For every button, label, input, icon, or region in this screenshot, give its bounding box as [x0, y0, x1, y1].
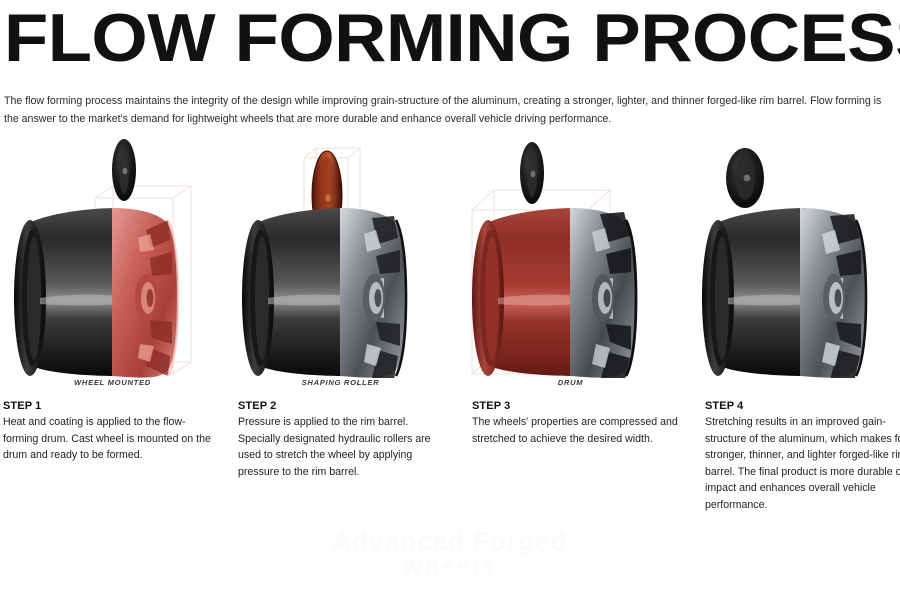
diagram-strip: WHEEL MOUNTED: [0, 138, 900, 400]
diagram-caption-1: WHEEL MOUNTED: [0, 378, 225, 387]
step-4-heading: STEP 4: [705, 400, 900, 412]
step-3: STEP 3 The wheels' properties are compre…: [472, 400, 687, 447]
wheel-face-1: [112, 208, 178, 378]
diagram-step-2: SHAPING ROLLER: [228, 138, 453, 400]
diagram-caption-2: SHAPING ROLLER: [228, 378, 453, 387]
wheel-barrel-2: [242, 208, 348, 376]
page-title: FLOW FORMING PROCESS: [4, 2, 900, 74]
intro-paragraph: The flow forming process maintains the i…: [4, 92, 894, 128]
wheel-face-2: [340, 208, 406, 378]
diagram-step-4: [690, 138, 900, 400]
roller-disc-3: [520, 142, 544, 204]
wheel-barrel-3: [472, 208, 578, 376]
wheel-diagram-2-icon: [228, 138, 453, 378]
diagram-step-3: DRUM: [458, 138, 683, 400]
roller-disc-4: [726, 148, 764, 208]
wheel-barrel-1: [14, 208, 120, 376]
wheel-barrel-4: [702, 208, 808, 376]
step-2-heading: STEP 2: [238, 400, 453, 412]
wheel-diagram-4-icon: [690, 138, 900, 378]
step-1-body: Heat and coating is applied to the flow-…: [3, 414, 218, 464]
wheel-face-4: [800, 208, 866, 378]
wheel-diagram-3-icon: [458, 138, 683, 378]
flow-forming-process-infographic: FLOW FORMING PROCESS The flow forming pr…: [0, 0, 900, 594]
step-4-body: Stretching results in an improved gain-s…: [705, 414, 900, 513]
steps-row: STEP 1 Heat and coating is applied to th…: [0, 400, 900, 590]
step-3-heading: STEP 3: [472, 400, 687, 412]
step-2-body: Pressure is applied to the rim barrel. S…: [238, 414, 453, 480]
wheel-diagram-1-icon: [0, 138, 225, 378]
step-2: STEP 2 Pressure is applied to the rim ba…: [238, 400, 453, 480]
step-3-body: The wheels' properties are compressed an…: [472, 414, 687, 447]
diagram-step-1: WHEEL MOUNTED: [0, 138, 225, 400]
step-1: STEP 1 Heat and coating is applied to th…: [3, 400, 218, 464]
diagram-caption-3: DRUM: [458, 378, 683, 387]
step-4: STEP 4 Stretching results in an improved…: [705, 400, 900, 513]
wheel-face-3: [570, 208, 636, 378]
step-1-heading: STEP 1: [3, 400, 218, 412]
roller-disc-1: [112, 139, 136, 201]
